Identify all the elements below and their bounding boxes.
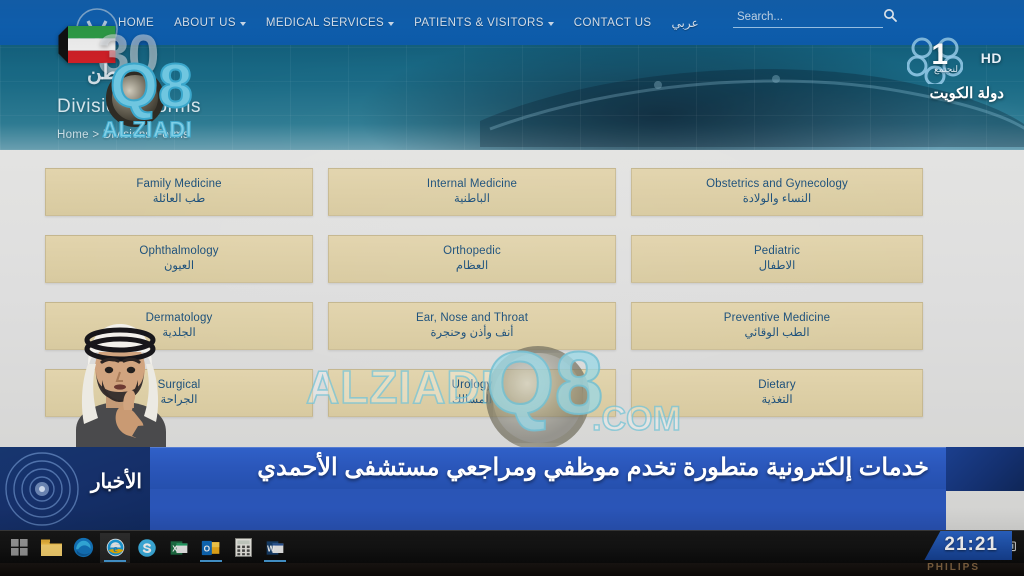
division-card[interactable]: Orthopedic العظام <box>328 235 616 283</box>
division-name-en: Ophthalmology <box>139 244 218 258</box>
division-name-ar: الاطفال <box>759 259 796 274</box>
division-name-ar: الطب الوقائي <box>744 326 809 341</box>
division-name-ar: المسالك <box>452 393 492 408</box>
division-name-en: Orthopedic <box>443 244 501 258</box>
internet-explorer-icon[interactable]: e <box>100 533 130 563</box>
chevron-down-icon <box>548 22 554 26</box>
news-lower-third: خدمات إلكترونية متطورة تخدم موظفي ومراجع… <box>0 447 1024 530</box>
division-card[interactable]: Urology المسالك <box>328 369 616 417</box>
ticker-end-cap <box>946 447 1024 491</box>
word-icon[interactable]: W <box>260 533 290 563</box>
channel-slogan: لنجتمع <box>934 64 958 75</box>
skype-icon[interactable] <box>132 533 162 563</box>
division-name-en: Urology <box>452 378 493 392</box>
division-name-en: Family Medicine <box>136 177 221 191</box>
nav-item-label: CONTACT US <box>574 17 652 29</box>
hd-badge: HD <box>981 50 1002 66</box>
search-box <box>733 8 908 32</box>
division-name-en: Pediatric <box>754 244 800 258</box>
calculator-icon[interactable] <box>228 533 258 563</box>
division-card[interactable]: Preventive Medicine الطب الوقائي <box>631 302 923 350</box>
chevron-down-icon <box>240 22 246 26</box>
breadcrumb: Home > Divisions Forms <box>57 129 189 141</box>
division-card[interactable]: Pediatric الاطفال <box>631 235 923 283</box>
chevron-down-icon <box>388 22 394 26</box>
channel-bug: 1 لنجتمع HD دولة الكويت <box>880 34 1010 114</box>
division-card[interactable]: Obstetrics and Gynecology النساء والولاد… <box>631 168 923 216</box>
tv-picture-area: HOME ABOUT US MEDICAL SERVICES PATIENTS … <box>0 0 1024 530</box>
division-name-en: Preventive Medicine <box>724 311 830 325</box>
news-badge: الأخبار <box>0 447 150 530</box>
edge-icon[interactable] <box>68 533 98 563</box>
svg-text:W: W <box>267 544 275 553</box>
file-explorer-icon[interactable] <box>36 533 66 563</box>
sign-language-interpreter <box>58 318 183 458</box>
site-logo[interactable]: 30 وطن <box>52 4 217 129</box>
search-input[interactable] <box>733 8 883 28</box>
division-card[interactable]: Dietary التغذية <box>631 369 923 417</box>
nav-item-arabic[interactable]: عربي <box>672 16 699 30</box>
division-card[interactable]: Ophthalmology العيون <box>45 235 313 283</box>
nav-item-patients-visitors[interactable]: PATIENTS & VISITORS <box>414 17 554 29</box>
division-name-ar: العيون <box>164 259 194 274</box>
windows-taskbar: e X <box>0 530 1024 563</box>
news-badge-label: الأخبار <box>91 469 142 494</box>
division-name-en: Internal Medicine <box>427 177 517 191</box>
news-headline: خدمات إلكترونية متطورة تخدم موظفي ومراجع… <box>169 451 929 485</box>
taskbar-icons: e X <box>4 531 290 564</box>
svg-text:X: X <box>172 544 178 553</box>
division-name-ar: أنف وأذن وحنجرة <box>431 326 514 341</box>
division-name-en: Obstetrics and Gynecology <box>706 177 848 191</box>
nav-item-label: عربي <box>672 16 699 30</box>
globe-radar-icon <box>2 449 82 529</box>
division-name-en: Ear, Nose and Throat <box>416 311 528 325</box>
monitor-bezel <box>0 563 1024 576</box>
division-name-en: Dietary <box>758 378 795 392</box>
division-card[interactable]: Family Medicine طب العائلة <box>45 168 313 216</box>
watan-label: وطن <box>87 60 128 85</box>
tv-screenshot: HOME ABOUT US MEDICAL SERVICES PATIENTS … <box>0 0 1024 576</box>
nav-item-contact-us[interactable]: CONTACT US <box>574 17 652 29</box>
nav-item-label: PATIENTS & VISITORS <box>414 17 544 29</box>
monitor-brand-label: PHILIPS <box>927 562 980 573</box>
nav-item-label: MEDICAL SERVICES <box>266 17 384 29</box>
svg-text:e: e <box>113 544 118 555</box>
outlook-icon[interactable]: O <box>196 533 226 563</box>
division-name-ar: طب العائلة <box>153 192 206 207</box>
division-name-ar: الباطنية <box>454 192 490 207</box>
excel-icon[interactable]: X <box>164 533 194 563</box>
nav-item-medical-services[interactable]: MEDICAL SERVICES <box>266 17 394 29</box>
division-name-ar: النساء والولادة <box>743 192 811 207</box>
search-icon[interactable] <box>882 7 898 23</box>
start-icon[interactable] <box>4 533 34 563</box>
division-name-ar: التغذية <box>761 393 792 408</box>
svg-text:O: O <box>204 543 211 553</box>
country-label: دولة الكويت <box>930 84 1004 102</box>
division-name-ar: العظام <box>456 259 488 274</box>
division-card[interactable]: Internal Medicine الباطنية <box>328 168 616 216</box>
division-card[interactable]: Ear, Nose and Throat أنف وأذن وحنجرة <box>328 302 616 350</box>
